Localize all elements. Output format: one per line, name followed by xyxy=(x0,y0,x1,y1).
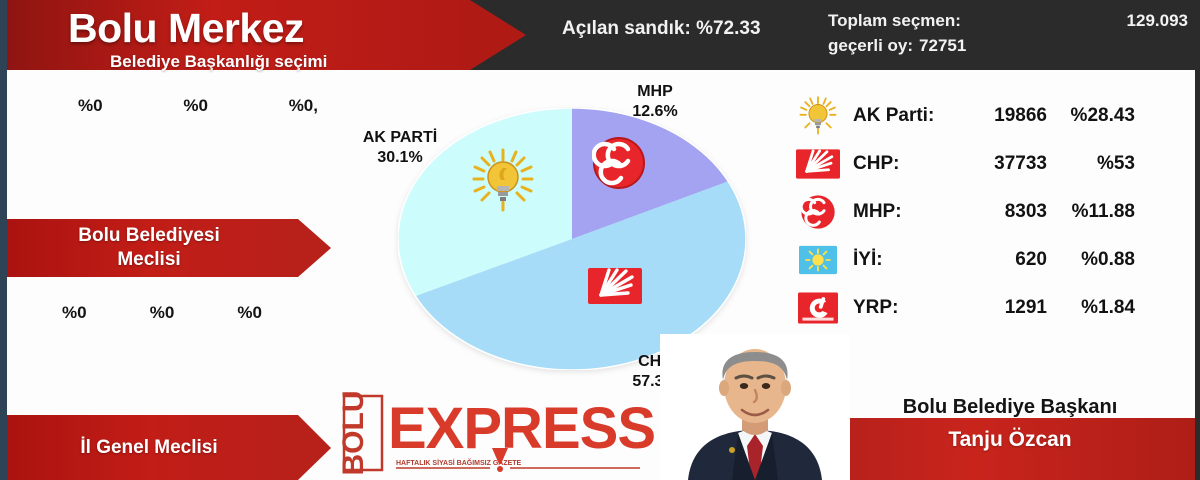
bolu-express-logo: BOLU EXPRESS HAFTALIK SİYASİ BAĞIMSIZ GA… xyxy=(340,390,670,476)
page-title: Bolu Merkez xyxy=(68,5,304,52)
header-bar: Bolu Merkez Belediye Başkanlığı seçimi A… xyxy=(0,0,1200,70)
logo-vertical-word: BOLU xyxy=(340,391,382,476)
percent-value: %0 xyxy=(150,303,175,323)
right-edge-strip xyxy=(1195,0,1200,480)
left-edge-strip xyxy=(0,0,7,480)
percent-value: %0 xyxy=(78,96,103,116)
mayor-title: Bolu Belediye Başkanı xyxy=(820,396,1200,419)
pie-label-name: MHP xyxy=(600,82,710,102)
valid-votes-label: geçerli oy: xyxy=(828,33,913,58)
party-percent: %11.88 xyxy=(1047,201,1139,223)
percent-value: %0 xyxy=(62,303,87,323)
mhp-logo-icon xyxy=(592,136,646,195)
infographic-canvas: Bolu Merkez Belediye Başkanlığı seçimi A… xyxy=(0,0,1200,480)
akparti-logo-icon xyxy=(470,148,536,219)
table-row: İYİ: 620 %0.88 xyxy=(795,236,1155,284)
banner-bolu-belediyesi-meclisi: Bolu Belediyesi Meclisi xyxy=(0,219,298,277)
party-votes: 1291 xyxy=(949,297,1047,319)
page-subtitle: Belediye Başkanlığı seçimi xyxy=(110,52,327,72)
yrp-logo-icon xyxy=(795,291,841,325)
party-votes: 37733 xyxy=(949,153,1047,175)
percent-value: %0 xyxy=(237,303,262,323)
party-name: MHP: xyxy=(841,201,949,223)
banner-line-2: Meclisi xyxy=(117,248,180,272)
table-row: AK Parti: 19866 %28.43 xyxy=(795,92,1155,140)
banner-line-1: Bolu Belediyesi xyxy=(78,224,220,248)
akparti-logo-icon xyxy=(795,99,841,133)
party-percent: %1.84 xyxy=(1047,297,1139,319)
table-row: YRP: 1291 %1.84 xyxy=(795,284,1155,332)
banner-il-genel-meclisi: İl Genel Meclisi xyxy=(0,415,298,480)
chp-logo-icon xyxy=(795,147,841,181)
results-table: AK Parti: 19866 %28.43 CHP: xyxy=(795,92,1155,332)
pie-label-pct: 12.6% xyxy=(600,102,710,122)
party-votes: 620 xyxy=(949,249,1047,271)
iyi-parti-logo-icon xyxy=(795,243,841,277)
party-name: CHP: xyxy=(841,153,949,175)
banner-line-1: İl Genel Meclisi xyxy=(80,437,217,459)
svg-text:BOLU: BOLU xyxy=(340,391,370,476)
party-votes: 8303 xyxy=(949,201,1047,223)
party-percent: %53 xyxy=(1047,153,1139,175)
party-name: AK Parti: xyxy=(841,105,949,127)
pie-label-akparti: AK PARTİ 30.1% xyxy=(340,128,460,168)
chp-logo-icon xyxy=(588,268,642,309)
mayor-name: Tanju Özcan xyxy=(820,428,1200,452)
percent-value: %0 xyxy=(183,96,208,116)
total-voters-value: 129.093 xyxy=(1127,8,1188,33)
valid-votes-value: 72751 xyxy=(919,33,966,58)
logo-main-word: EXPRESS xyxy=(388,396,655,461)
party-percent: %28.43 xyxy=(1047,105,1139,127)
party-name: İYİ: xyxy=(841,249,949,271)
voter-stats: Toplam seçmen: 129.093 geçerli oy: 72751 xyxy=(828,8,1188,58)
mhp-logo-icon xyxy=(795,195,841,229)
party-percent: %0.88 xyxy=(1047,249,1139,271)
total-voters-row: Toplam seçmen: 129.093 xyxy=(828,8,1188,33)
valid-votes-row: geçerli oy: 72751 xyxy=(828,33,1188,58)
header-title-banner: Bolu Merkez Belediye Başkanlığı seçimi xyxy=(0,0,470,70)
spacer xyxy=(961,8,1127,33)
total-voters-label: Toplam seçmen: xyxy=(828,8,961,33)
party-votes: 19866 xyxy=(949,105,1047,127)
pie-label-name: AK PARTİ xyxy=(340,128,460,148)
party-name: YRP: xyxy=(841,297,949,319)
pie-label-mhp: MHP 12.6% xyxy=(600,82,710,122)
meclis-top-percents: %0 %0 %0, xyxy=(78,96,318,116)
turnout-stat: Açılan sandık: %72.33 xyxy=(562,18,761,40)
table-row: CHP: 37733 %53 xyxy=(795,140,1155,188)
pie-label-pct: 30.1% xyxy=(340,148,460,168)
percent-value: %0, xyxy=(289,96,318,116)
meclis-bottom-percents: %0 %0 %0 xyxy=(62,303,262,323)
table-row: MHP: 8303 %11.88 xyxy=(795,188,1155,236)
